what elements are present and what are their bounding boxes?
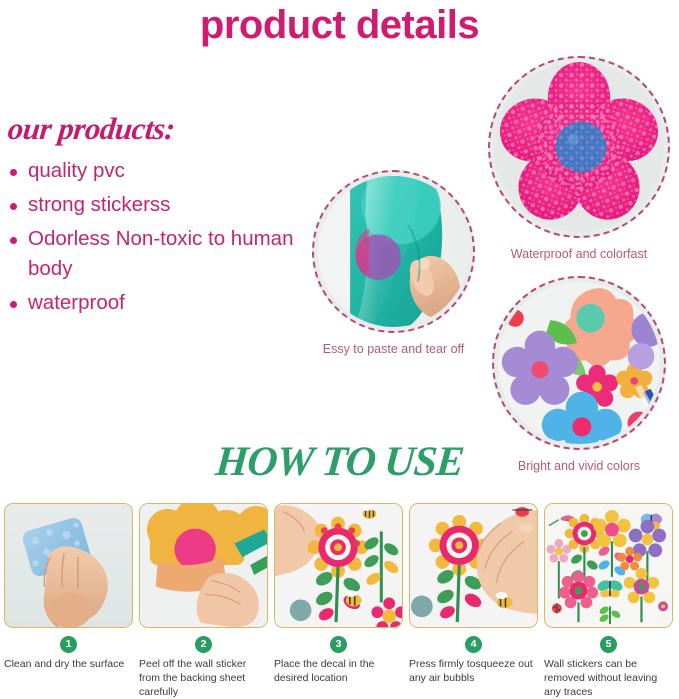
step-number-badge: 1 [60,636,77,653]
step-caption: Place the decal in the desired location [274,657,403,685]
feature-photo-inner [318,176,469,327]
feature-photo-inner [498,282,660,444]
page-title: product details [0,2,679,48]
multicolor-flower-sheet-image [498,282,660,444]
pressing-decal-image [410,504,537,627]
step-photo-place-decal [274,503,403,628]
feature-photo-waterproof [488,56,670,238]
feature-photo-inner [494,62,664,232]
product-item-label: strong stickerss [28,193,170,216]
product-feature-list: quality pvc strong stickerss Odorless No… [8,156,298,318]
list-item: quality pvc [8,156,298,186]
step-1: 1 Clean and dry the surface [4,503,133,699]
teal-sticker-peel-image [318,176,469,327]
step-photo-press-firmly [409,503,538,628]
step-photo-sticker-sheet [544,503,673,628]
bullet-dot-icon [10,301,17,308]
feature-caption: Essy to paste and tear off [312,341,475,357]
step-number-badge: 5 [600,636,617,653]
step-number-badge: 2 [195,636,212,653]
step-photo-peel-sticker [139,503,268,628]
feature-easy-paste: Essy to paste and tear off [312,170,475,357]
product-item-label: waterproof [28,291,125,314]
list-item: strong stickerss [8,190,298,220]
step-number-badge: 4 [465,636,482,653]
product-item-label: Odorless Non-toxic to human body [28,227,293,280]
bullet-dot-icon [10,169,17,176]
our-products-section: our products: quality pvc strong sticker… [8,112,298,322]
feature-photo-bright-colors [492,276,666,450]
step-caption: Peel off the wall sticker from the backi… [139,657,268,699]
list-item: waterproof [8,288,298,318]
step-caption: Wall stickers can be removed without lea… [544,657,673,699]
pink-flower-sticker-image [494,62,664,232]
step-2: 2 Peel off the wall sticker from the bac… [139,503,268,699]
full-sticker-sheet-image [545,504,672,627]
product-item-label: quality pvc [28,159,125,182]
list-item: Odorless Non-toxic to human body [8,224,298,284]
step-5: 5 Wall stickers can be removed without l… [544,503,673,699]
bullet-dot-icon [10,237,17,244]
step-caption: Clean and dry the surface [4,657,133,671]
hand-peeling-sticker-image [140,504,267,627]
how-to-use-title: HOW TO USE [0,437,679,487]
hand-wiping-wall-image [5,504,132,627]
step-caption: Press firmly tosqueeze out any air bubbl… [409,657,538,685]
step-photo-clean-surface [4,503,133,628]
bullet-dot-icon [10,203,17,210]
feature-photo-easy-paste [312,170,475,333]
feature-waterproof: Waterproof and colorfast [488,56,670,262]
step-number-badge: 3 [330,636,347,653]
our-products-heading: our products: [6,112,300,146]
feature-caption: Waterproof and colorfast [488,246,670,262]
how-to-use-steps: 1 Clean and dry the surface [4,503,675,699]
step-3: 3 Place the decal in the desired locatio… [274,503,403,699]
placing-decal-image [275,504,402,627]
step-4: 4 Press firmly tosqueeze out any air bub… [409,503,538,699]
